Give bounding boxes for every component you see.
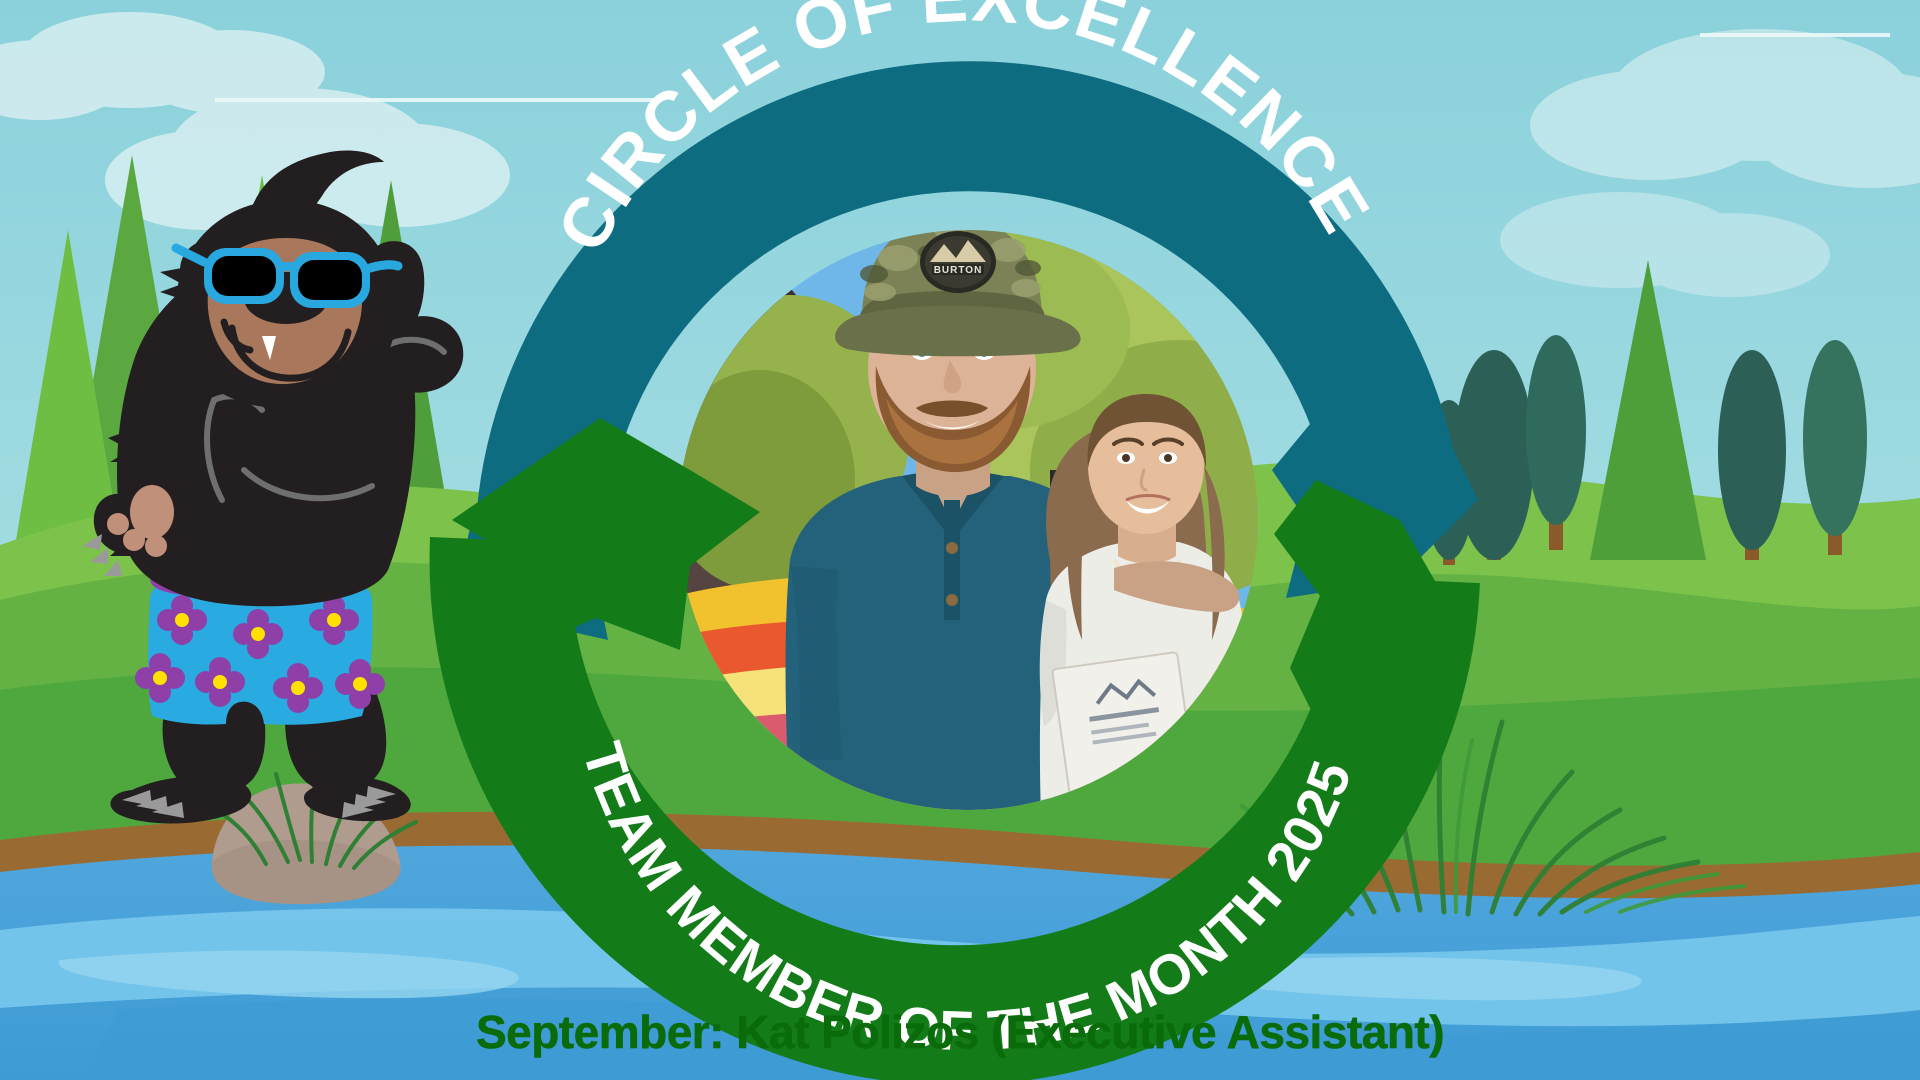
cap-badge-text: BURTON bbox=[934, 265, 983, 276]
month-winner-caption: September: Kat Polizos (Executive Assist… bbox=[0, 1005, 1920, 1059]
poster-illustration: BURTON bbox=[0, 0, 1920, 1080]
poster-canvas: BURTON bbox=[0, 0, 1920, 1080]
